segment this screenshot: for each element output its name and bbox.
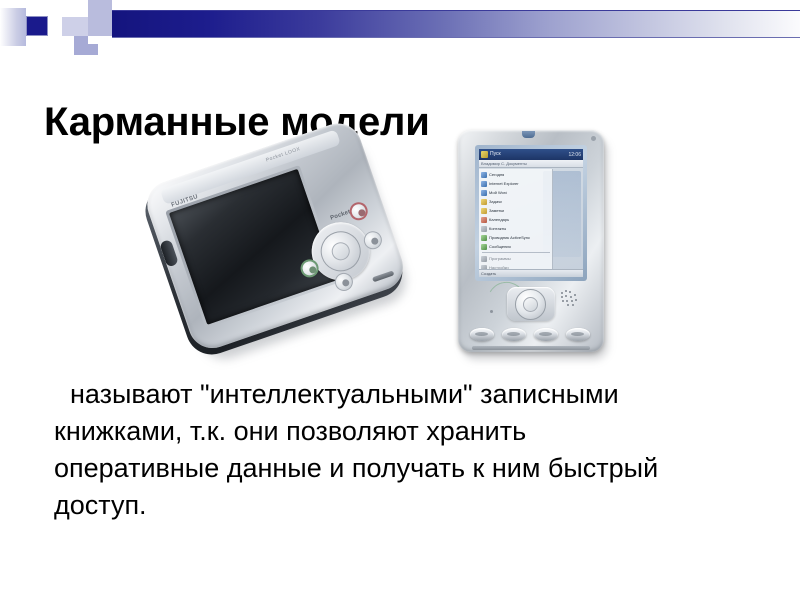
right-pda-start-menu: Сегодня Internet Explorer Мой Word [479, 169, 553, 269]
list-item: Задачи [480, 197, 552, 206]
decoration-fade-strip [0, 8, 26, 46]
list-item: Сообщения [480, 242, 552, 251]
word-icon [481, 190, 487, 196]
list-item: Сегодня [480, 170, 552, 179]
tasks-icon [481, 199, 487, 205]
today-icon [481, 172, 487, 178]
list-item: Проводник ActiveSync [480, 233, 552, 242]
right-pda-image: Пуск 12:06 Владимир С. Документы Сегодня… [452, 122, 612, 367]
presentation-slide: Карманные модели FUJITSU Pocket LOOX Poc… [0, 0, 800, 600]
right-pda-status-led [490, 310, 493, 313]
decoration-square-pale [62, 0, 88, 16]
header-gradient-bar [112, 10, 800, 38]
programs-icon [481, 256, 487, 262]
contacts-icon [481, 226, 487, 232]
list-item-label: Сообщения [489, 244, 511, 250]
list-item: Мой Word [480, 188, 552, 197]
list-item: Календарь [480, 215, 552, 224]
list-item-label: Календарь [489, 217, 509, 223]
slide-body-text: называют "интеллектуальными" записными к… [36, 376, 696, 524]
right-pda-subbar: Владимир С. Документы [479, 160, 583, 168]
right-pda-softkey-bar: Создать [479, 269, 583, 277]
right-pda-hardware-button-2 [502, 328, 526, 341]
right-pda-dpad-center [523, 297, 538, 312]
list-item-label: Программы [489, 256, 511, 262]
right-pda-titlebar-text: Пуск [490, 151, 566, 158]
decoration-square-light-3 [88, 36, 112, 44]
menu-separator [482, 252, 550, 253]
right-pda-screen: Пуск 12:06 Владимир С. Документы Сегодня… [479, 149, 583, 277]
body-paragraph: называют "интеллектуальными" записными к… [54, 376, 696, 524]
list-item-label: Контакты [489, 226, 506, 232]
start-menu-icon [481, 151, 488, 158]
list-item-label: Заметки [489, 208, 504, 214]
right-pda-hardware-button-3 [534, 328, 558, 341]
list-item: Заметки [480, 206, 552, 215]
right-pda-hardware-button-1 [470, 328, 494, 341]
right-pda-indicator-led [522, 131, 535, 138]
list-item-label: Мой Word [489, 190, 507, 196]
right-pda-clock: 12:06 [568, 152, 581, 158]
left-pda-image: FUJITSU Pocket LOOX Pocket PC [152, 132, 408, 364]
right-pda-corner-sensor [591, 136, 596, 141]
decoration-square-mid-1 [88, 17, 112, 36]
decoration-square-light-1 [62, 17, 88, 36]
left-pda-record-button-glyph [308, 265, 317, 274]
calendar-icon [481, 217, 487, 223]
list-item: Программы [480, 254, 552, 263]
list-item-label: Сегодня [489, 172, 504, 178]
notes-icon [481, 208, 487, 214]
right-pda-titlebar: Пуск 12:06 [479, 149, 583, 160]
list-item-label: Проводник ActiveSync [489, 235, 530, 241]
left-pda-power-button-glyph [357, 208, 366, 217]
left-pda-contacts-button-glyph [341, 278, 350, 287]
left-pda-device: FUJITSU Pocket LOOX Pocket PC [135, 113, 424, 376]
right-pda-body: Пуск 12:06 Владимир С. Документы Сегодня… [458, 130, 604, 352]
speaker-grille [561, 290, 583, 306]
ie-icon [481, 181, 487, 187]
sync-icon [481, 235, 487, 241]
list-item-label: Задачи [489, 199, 502, 205]
slide-header-decoration [0, 0, 800, 60]
messages-icon [481, 244, 487, 250]
right-pda-bottom-lip [472, 346, 590, 350]
right-pda-hardware-button-4 [566, 328, 590, 341]
list-item-label: Internet Explorer [489, 181, 519, 187]
decoration-square-dark [26, 16, 48, 36]
left-pda-calendar-button-glyph [370, 236, 379, 245]
decoration-square-mid-top [88, 0, 112, 17]
right-pda-screen-bezel: Пуск 12:06 Владимир С. Документы Сегодня… [475, 145, 587, 281]
list-item: Контакты [480, 224, 552, 233]
list-item: Internet Explorer [480, 179, 552, 188]
